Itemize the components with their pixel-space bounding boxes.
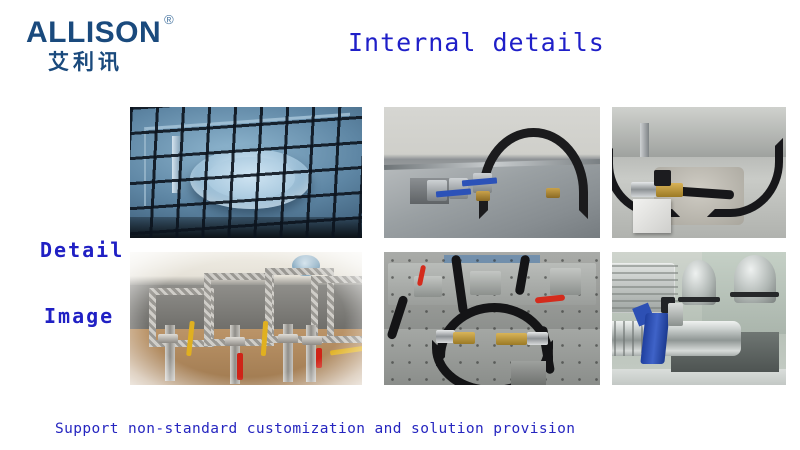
logo-wordmark: ALLISON (26, 18, 161, 48)
brass-fitting (496, 333, 526, 345)
mesh-vertical-bars (130, 107, 362, 238)
clamp-block (470, 271, 500, 295)
company-logo: ALLISON® 艾利讯 (26, 18, 206, 88)
photo-scene (612, 252, 786, 385)
logo-chinese-name: 艾利讯 (48, 52, 206, 73)
gallery-photo-braided-hoses-wood-panel (130, 252, 362, 385)
hex-nut (278, 334, 298, 343)
valve-flange (730, 292, 779, 297)
footer-note: Support non-standard customization and s… (55, 421, 575, 437)
red-valve-handle (316, 348, 322, 368)
brass-fitting (453, 332, 475, 344)
hex-nut (302, 336, 322, 345)
white-insulation-block (633, 199, 671, 233)
photo-scene (384, 252, 600, 385)
hex-nut (158, 334, 178, 343)
photo-scene (384, 107, 600, 238)
valve-stem (283, 324, 293, 383)
gallery-photo-test-bench-red-levers (384, 252, 600, 385)
red-valve-handle (237, 353, 243, 380)
mounting-foot (511, 361, 546, 385)
photo-scene (130, 107, 362, 238)
brass-fitting (476, 191, 490, 201)
section-label-detail: Detail (40, 238, 124, 262)
valve-flange (678, 297, 720, 302)
sensor-probe (668, 303, 684, 327)
hose-clamp (654, 170, 671, 186)
clamp-block (550, 268, 580, 295)
gallery-photo-mesh-grid-basin (130, 107, 362, 238)
gallery-photo-stainless-manifold-blue-clamp (612, 252, 786, 385)
page-title: Internal details (348, 28, 605, 57)
gallery-photo-hose-arc-blue-valves (384, 107, 600, 238)
valve-stem (306, 325, 316, 382)
hex-nut (225, 337, 245, 346)
registered-trademark-icon: ® (164, 12, 174, 27)
photo-scene (130, 252, 362, 385)
section-label-image: Image (44, 304, 114, 328)
photo-scene (612, 107, 786, 238)
brass-fitting (546, 188, 560, 198)
logo-wordmark-row: ALLISON® (26, 18, 206, 48)
gallery-photo-hose-brass-chamber (612, 107, 786, 238)
chrome-fitting (527, 332, 549, 345)
